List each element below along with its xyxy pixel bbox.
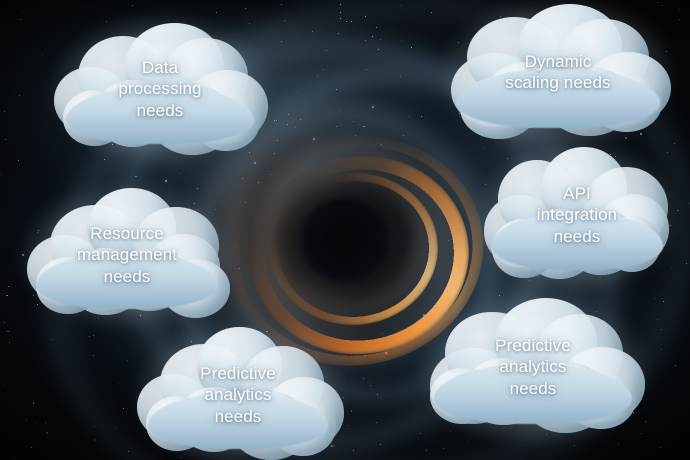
cloud-label-data-processing: Data processing needs [114, 57, 205, 121]
cloud-data-processing[interactable]: Data processing needs [62, 26, 258, 152]
cloud-predictive-analytics-left[interactable]: Predictive analytics needs [144, 334, 332, 456]
cloud-label-resource-management: Resource management needs [73, 223, 181, 287]
cloud-label-predictive-analytics-right: Predictive analytics needs [491, 335, 575, 399]
scene-canvas: Data processing needsDynamic scaling nee… [0, 0, 690, 460]
cloud-label-api-integration: API integration needs [533, 183, 622, 247]
cloud-api-integration[interactable]: API integration needs [487, 152, 667, 278]
event-horizon [301, 198, 389, 282]
cloud-predictive-analytics-right[interactable]: Predictive analytics needs [430, 302, 636, 432]
cloud-label-dynamic-scaling: Dynamic scaling needs [501, 51, 614, 94]
cloud-resource-management[interactable]: Resource management needs [32, 194, 222, 316]
cloud-label-predictive-analytics-left: Predictive analytics needs [196, 363, 280, 427]
cloud-dynamic-scaling[interactable]: Dynamic scaling needs [452, 8, 664, 136]
